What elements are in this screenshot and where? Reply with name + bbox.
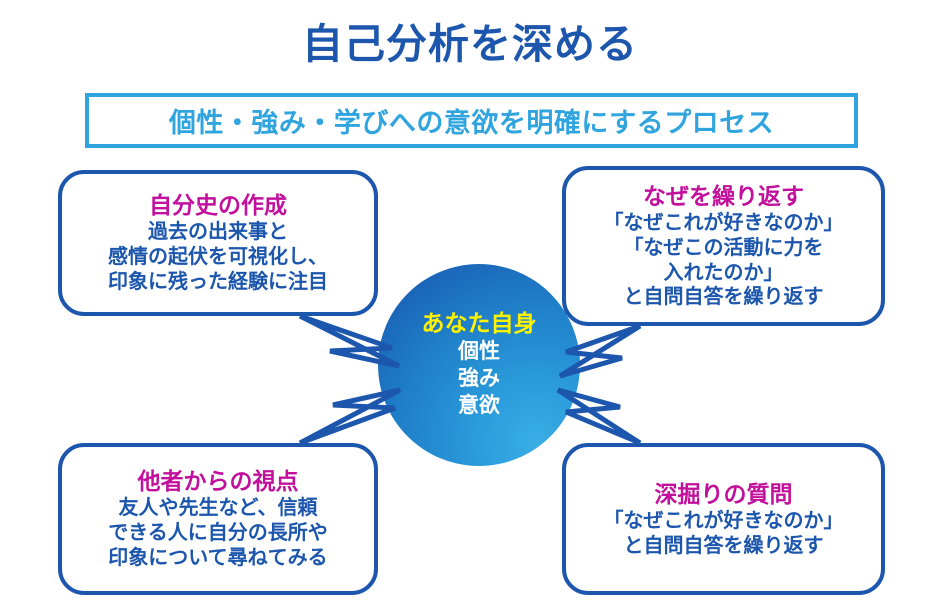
subtitle-banner: 個性・強み・学びへの意欲を明確にするプロセス — [85, 93, 858, 148]
callout-line: と自問自答を繰り返す — [604, 285, 844, 310]
callout-top-left[interactable]: 自分史の作成 過去の出来事と 感情の起伏を可視化し、 印象に残った経験に注目 — [58, 170, 378, 316]
callout-body-bottom-left: 友人や先生など、信頼 できる人に自分の長所や 印象について尋ねてみる — [108, 496, 328, 570]
subtitle-text: 個性・強み・学びへの意欲を明確にするプロセス — [169, 101, 774, 140]
page-title: 自己分析を深める — [0, 22, 940, 67]
callout-line: 「なぜこの活動に力を — [604, 236, 844, 261]
infographic-canvas: 自己分析を深める 個性・強み・学びへの意欲を明確にするプロセス あなた自身 個性… — [0, 0, 940, 610]
callout-line: と自問自答を繰り返す — [604, 534, 844, 559]
callout-line: 友人や先生など、信頼 — [108, 496, 328, 521]
callout-body-top-right: 「なぜこれが好きなのか」 「なぜこの活動に力を 入れたのか」 と自問自答を繰り返… — [604, 211, 844, 310]
callout-title-bottom-left: 他者からの視点 — [138, 467, 299, 495]
callout-line: できる人に自分の長所や — [108, 521, 328, 546]
callout-title-top-left: 自分史の作成 — [149, 191, 287, 219]
callout-line: 「なぜこれが好きなのか」 — [604, 211, 844, 236]
callout-line: 過去の出来事と — [108, 220, 328, 245]
callout-title-bottom-right: 深掘りの質問 — [655, 480, 793, 508]
callout-line: 「なぜこれが好きなのか」 — [604, 509, 844, 534]
callout-bottom-left[interactable]: 他者からの視点 友人や先生など、信頼 できる人に自分の長所や 印象について尋ねて… — [58, 443, 378, 595]
callout-bottom-right[interactable]: 深掘りの質問 「なぜこれが好きなのか」 と自問自答を繰り返す — [562, 443, 885, 595]
callout-line: 入れたのか」 — [604, 261, 844, 286]
callout-line: 印象について尋ねてみる — [108, 546, 328, 571]
callout-top-right[interactable]: なぜを繰り返す 「なぜこれが好きなのか」 「なぜこの活動に力を 入れたのか」 と… — [562, 166, 885, 326]
center-attribute-1: 強み — [458, 366, 500, 393]
center-main-label: あなた自身 — [422, 310, 537, 338]
callout-line: 印象に残った経験に注目 — [108, 270, 328, 295]
callout-body-top-left: 過去の出来事と 感情の起伏を可視化し、 印象に残った経験に注目 — [108, 220, 328, 294]
callout-title-top-right: なぜを繰り返す — [643, 182, 804, 210]
callout-line: 感情の起伏を可視化し、 — [108, 245, 328, 270]
center-circle: あなた自身 個性 強み 意欲 — [378, 264, 580, 466]
center-attribute-0: 個性 — [458, 339, 500, 366]
center-attribute-2: 意欲 — [458, 393, 500, 420]
callout-body-bottom-right: 「なぜこれが好きなのか」 と自問自答を繰り返す — [604, 509, 844, 559]
